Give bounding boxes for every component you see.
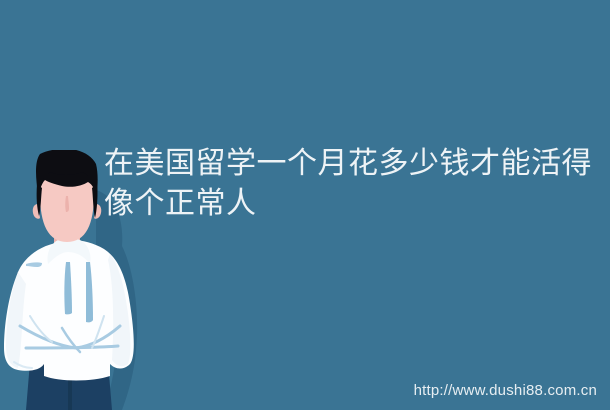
poster-canvas: 在美国留学一个月花多少钱才能活得像个正常人 http://www.dushi88… [0,0,610,410]
hoodie-group [4,238,134,381]
page-title: 在美国留学一个月花多少钱才能活得像个正常人 [104,144,596,224]
watermark-url: http://www.dushi88.com.cn [414,382,597,399]
pants-center-seam [68,378,72,410]
head-group [33,150,102,242]
